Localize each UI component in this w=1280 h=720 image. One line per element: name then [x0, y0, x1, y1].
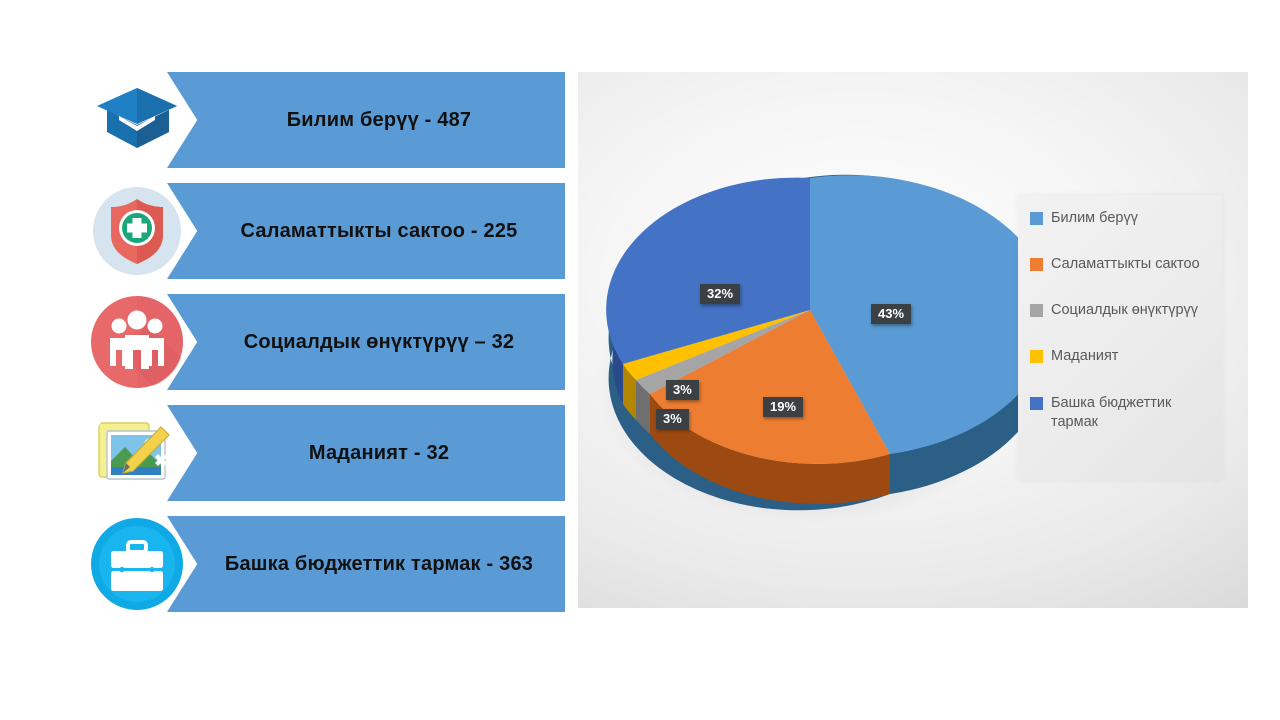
- briefcase-glyph: [89, 516, 185, 612]
- legend-label: Башка бюджеттик тармак: [1051, 394, 1214, 432]
- health-shield-glyph: [89, 183, 185, 279]
- legend-item-culture[interactable]: Маданият: [1030, 347, 1214, 366]
- legend-swatch-icon: [1030, 397, 1043, 410]
- pie-label-social: 3%: [656, 409, 689, 429]
- picture-edit-icon: [89, 405, 185, 501]
- banner-label: Башка бюджеттик тармак - 363: [199, 553, 533, 576]
- banner-bar: Башка бюджеттик тармак - 363: [167, 516, 565, 612]
- legend-swatch-icon: [1030, 304, 1043, 317]
- category-banner-list: Билим берүү - 487 Саламаттыкты сактоо - …: [0, 0, 578, 720]
- pie-label-other: 32%: [700, 284, 740, 304]
- chart-legend: Билим берүү Саламаттыкты сактоо Социалды…: [1018, 195, 1222, 480]
- people-group-icon: [89, 294, 185, 390]
- banner-label: Саламаттыкты сактоо - 225: [214, 220, 517, 243]
- legend-swatch-icon: [1030, 258, 1043, 271]
- people-group-glyph: [89, 294, 185, 390]
- legend-item-social[interactable]: Социалдык өнүктүрүү: [1030, 301, 1214, 320]
- picture-edit-glyph: [89, 405, 185, 501]
- legend-item-other[interactable]: Башка бюджеттик тармак: [1030, 394, 1214, 432]
- graduation-cap-glyph: [89, 72, 185, 168]
- legend-label: Социалдык өнүктүрүү: [1051, 301, 1198, 320]
- banner-bar: Саламаттыкты сактоо - 225: [167, 183, 565, 279]
- legend-label: Саламаттыкты сактоо: [1051, 255, 1200, 274]
- pie-label-healthcare: 19%: [763, 397, 803, 417]
- legend-label: Билим берүү: [1051, 209, 1138, 228]
- banner-row-healthcare[interactable]: Саламаттыкты сактоо - 225: [0, 183, 578, 279]
- pie-chart-graphic[interactable]: [588, 132, 1028, 552]
- banner-label: Социалдык өнүктүрүү – 32: [218, 331, 515, 354]
- legend-label: Маданият: [1051, 347, 1118, 366]
- pie-label-education: 43%: [871, 304, 911, 324]
- legend-swatch-icon: [1030, 350, 1043, 363]
- banner-bar: Маданият - 32: [167, 405, 565, 501]
- pie-label-culture: 3%: [666, 380, 699, 400]
- legend-item-education[interactable]: Билим берүү: [1030, 209, 1214, 228]
- banner-bar: Билим берүү - 487: [167, 72, 565, 168]
- banner-row-education[interactable]: Билим берүү - 487: [0, 72, 578, 168]
- banner-label: Маданият - 32: [283, 442, 449, 465]
- legend-swatch-icon: [1030, 212, 1043, 225]
- banner-row-culture[interactable]: Маданият - 32: [0, 405, 578, 501]
- health-shield-icon: [89, 183, 185, 279]
- pie-chart-panel: 43% 19% 3% 3% 32% Билим берүү Саламаттык…: [578, 72, 1248, 608]
- graduation-cap-icon: [89, 72, 185, 168]
- banner-row-social-development[interactable]: Социалдык өнүктүрүү – 32: [0, 294, 578, 390]
- banner-row-other-budget[interactable]: Башка бюджеттик тармак - 363: [0, 516, 578, 612]
- briefcase-icon: [89, 516, 185, 612]
- legend-item-healthcare[interactable]: Саламаттыкты сактоо: [1030, 255, 1214, 274]
- banner-label: Билим берүү - 487: [261, 109, 472, 132]
- banner-bar: Социалдык өнүктүрүү – 32: [167, 294, 565, 390]
